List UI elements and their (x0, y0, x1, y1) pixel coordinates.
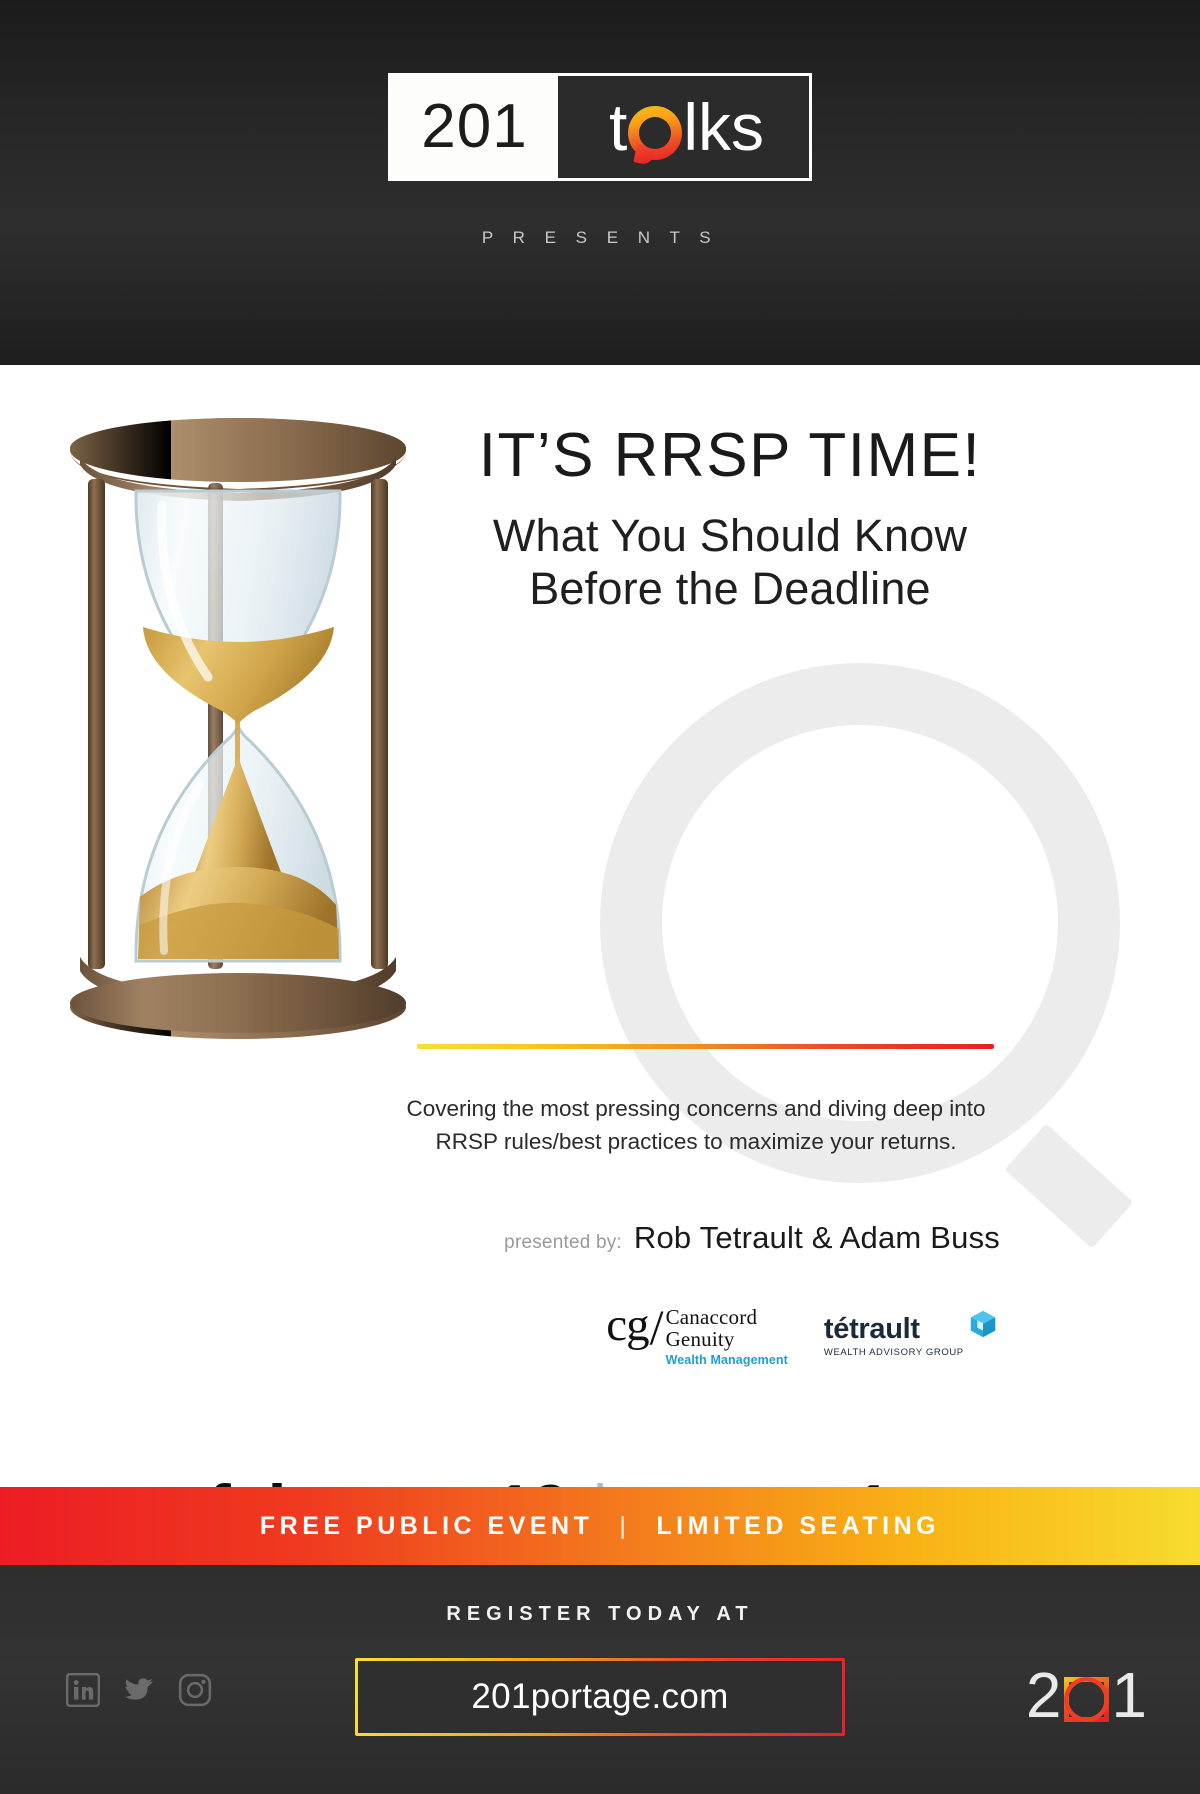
sponsor-logo-canaccord-genuity[interactable]: cg / Canaccord Genuity Wealth Management (606, 1305, 788, 1367)
logo-word-start: t (609, 94, 627, 160)
sponsor-logo-tetrault[interactable]: tétrault WEALTH ADVISORY GROUP (824, 1305, 964, 1358)
speech-bubble-tail (634, 144, 655, 165)
cg-name-line2: Genuity (666, 1329, 788, 1351)
register-label: REGISTER TODAY AT (0, 1603, 1200, 1626)
q-watermark-tail (1004, 1123, 1133, 1248)
instagram-icon[interactable] (178, 1673, 212, 1707)
sponsor-logos: cg / Canaccord Genuity Wealth Management… (560, 1305, 1010, 1385)
page-title: IT’S RRSP TIME! (410, 425, 1050, 487)
date-separator: | (569, 1471, 630, 1487)
header: 201 t lks P R E S E N T S (0, 0, 1200, 365)
page-subtitle-line1: What You Should Know (410, 509, 1050, 562)
social-links (66, 1673, 212, 1707)
gradient-divider (417, 1044, 994, 1049)
brand-logo-201-talks[interactable]: 201 t lks (391, 76, 809, 178)
footer: REGISTER TODAY AT 201portage.com 2 (0, 1565, 1200, 1794)
cg-slash: / (650, 1305, 664, 1349)
register-url-box[interactable]: 201portage.com (355, 1658, 845, 1736)
footer-brand-suffix: 1 (1111, 1663, 1148, 1727)
logo-number: 201 (421, 96, 527, 158)
page-subtitle: What You Should Know Before the Deadline (410, 509, 1050, 615)
speech-bubble-icon (628, 106, 682, 160)
logo-word-box: t lks (558, 76, 809, 178)
info-banner: FREE PUBLIC EVENT | LIMITED SEATING (0, 1487, 1200, 1565)
banner-left-text: FREE PUBLIC EVENT (260, 1512, 593, 1541)
footer-brand-prefix: 2 (1026, 1663, 1063, 1727)
presenters-row: presented by: Rob Tetrault & Adam Buss (430, 1220, 1000, 1256)
banner-right-text: LIMITED SEATING (656, 1512, 940, 1541)
cube-icon (968, 1309, 998, 1339)
event-datetime: february 19|noon - 1pm (0, 1470, 1200, 1487)
linkedin-icon[interactable] (66, 1673, 100, 1707)
tetrault-name: tétrault (824, 1315, 964, 1344)
twitter-icon[interactable] (122, 1673, 156, 1707)
banner-text: FREE PUBLIC EVENT | LIMITED SEATING (260, 1512, 940, 1541)
cg-text-block: Canaccord Genuity Wealth Management (666, 1305, 788, 1367)
logo-word-end: lks (683, 94, 764, 160)
event-description: Covering the most pressing concerns and … (386, 1092, 1006, 1159)
cg-name-line1: Canaccord (666, 1307, 788, 1329)
logo-word: t lks (609, 94, 764, 160)
register-url: 201portage.com (471, 1677, 728, 1717)
page-subtitle-line2: Before the Deadline (410, 562, 1050, 615)
ring-icon-gradient (1064, 1677, 1109, 1722)
presenter-names: Rob Tetrault & Adam Buss (634, 1220, 1000, 1256)
logo-number-box: 201 (391, 76, 558, 178)
banner-separator: | (593, 1512, 656, 1541)
cg-monogram: cg (606, 1305, 648, 1346)
cg-subtitle: Wealth Management (666, 1353, 788, 1367)
presents-label: P R E S E N T S (0, 228, 1200, 248)
main-content: IT’S RRSP TIME! What You Should Know Bef… (0, 365, 1200, 1487)
headline-block: IT’S RRSP TIME! What You Should Know Bef… (410, 425, 1050, 615)
presented-by-label: presented by: (504, 1232, 622, 1254)
poster: 201 t lks P R E S E N T S (0, 0, 1200, 1794)
event-time: noon - 1pm (630, 1471, 991, 1487)
ring-icon (1064, 1677, 1109, 1722)
tetrault-subtitle: WEALTH ADVISORY GROUP (824, 1347, 964, 1358)
event-date: february 19 (208, 1471, 569, 1487)
hourglass-icon (58, 405, 418, 1055)
footer-brand-201: 2 1 (1026, 1663, 1148, 1727)
